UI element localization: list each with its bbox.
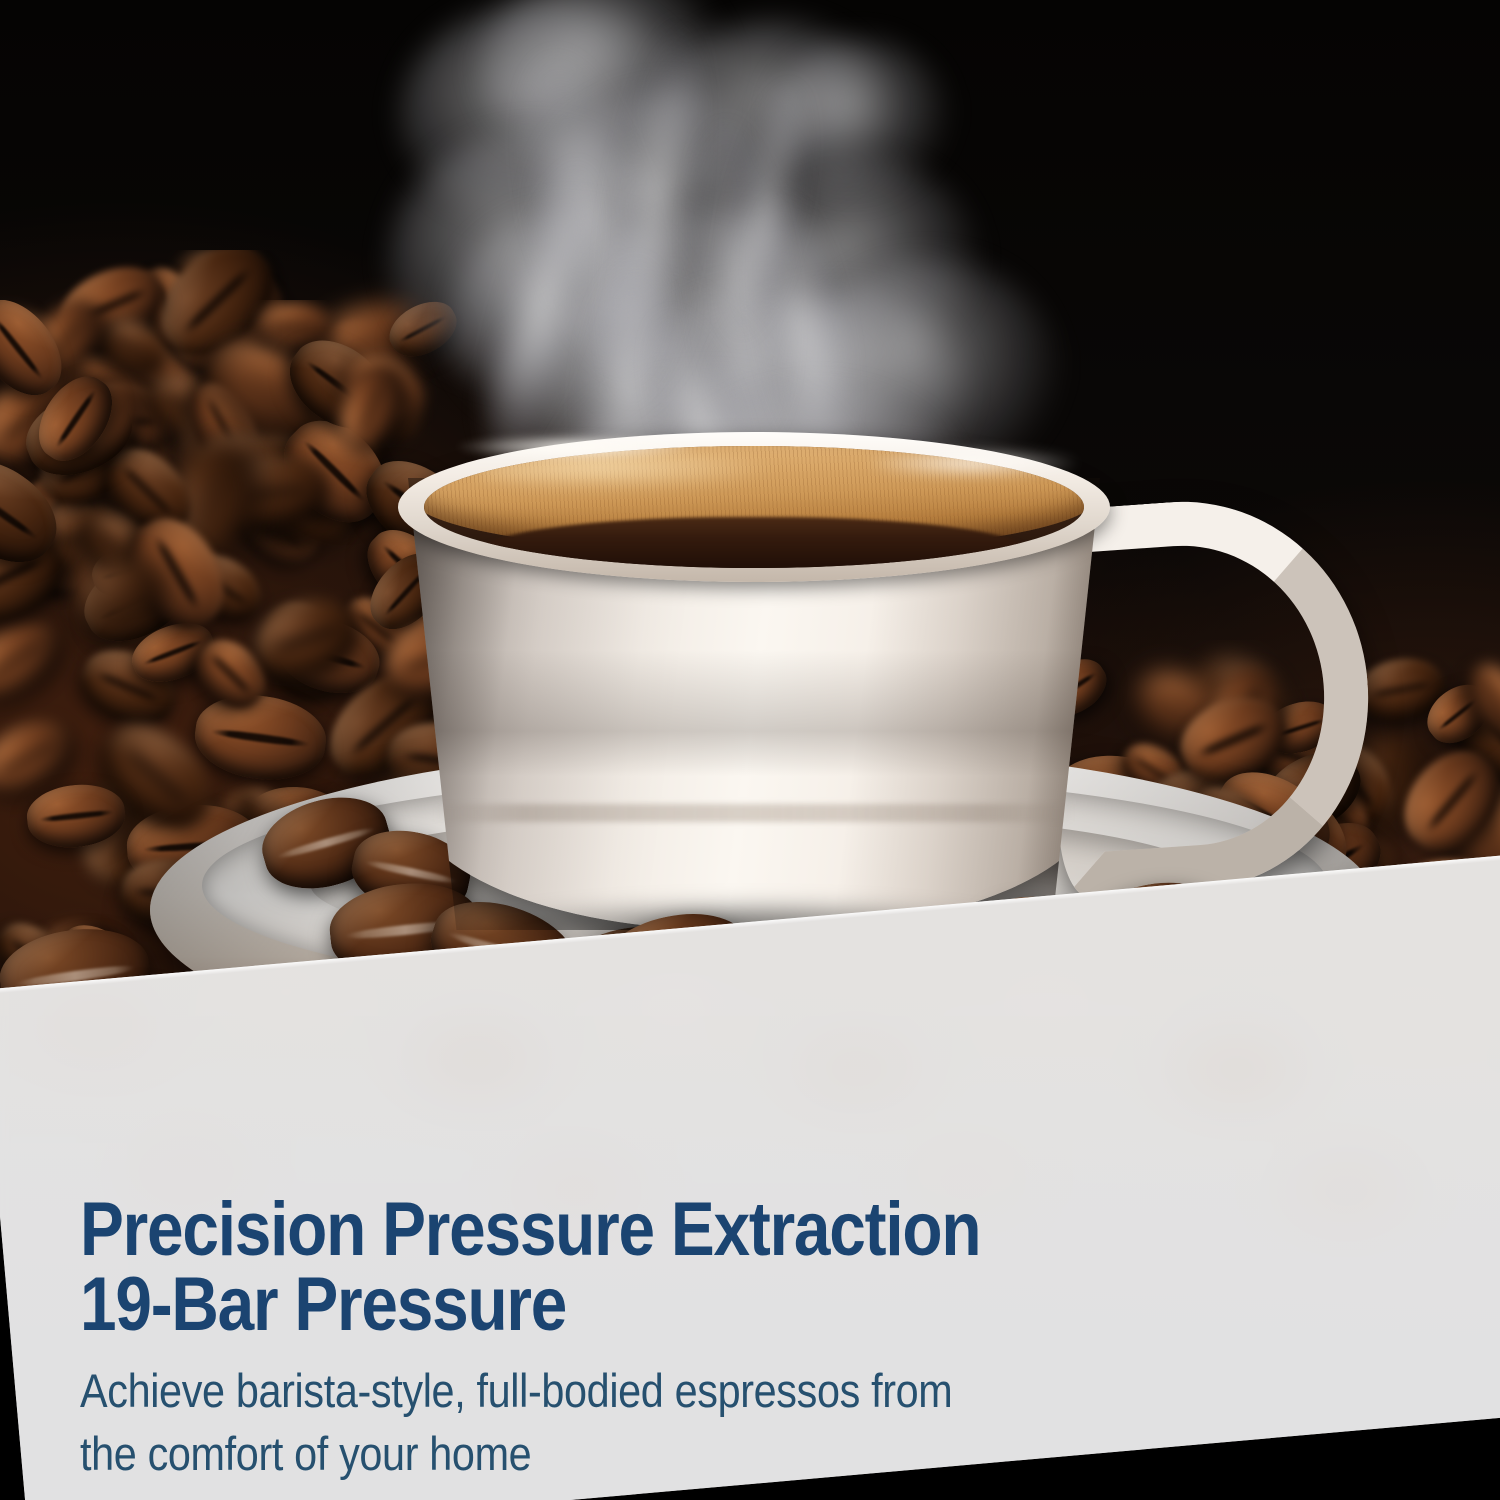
rim-highlight-right — [868, 448, 1078, 478]
subcopy-line-2: the comfort of your home — [80, 1423, 1215, 1485]
cup-highlight-band — [434, 804, 1074, 822]
headline-line-1: Precision Pressure Extraction — [80, 1187, 980, 1272]
banner-subcopy: Achieve barista-style, full-bodied espre… — [80, 1360, 1215, 1484]
product-banner: Precision Pressure Extraction 19-Bar Pre… — [0, 0, 1500, 1500]
banner-copy: Precision Pressure Extraction 19-Bar Pre… — [80, 1192, 1380, 1485]
rim-highlight-left — [456, 434, 696, 460]
headline-line-2: 19-Bar Pressure — [80, 1267, 1205, 1342]
page-title: Precision Pressure Extraction 19-Bar Pre… — [80, 1192, 1205, 1342]
coffee-bean — [0, 606, 73, 714]
subcopy-line-1: Achieve barista-style, full-bodied espre… — [80, 1360, 1215, 1422]
coffee-cup — [398, 432, 1110, 952]
steam-wisps — [330, 0, 1090, 480]
